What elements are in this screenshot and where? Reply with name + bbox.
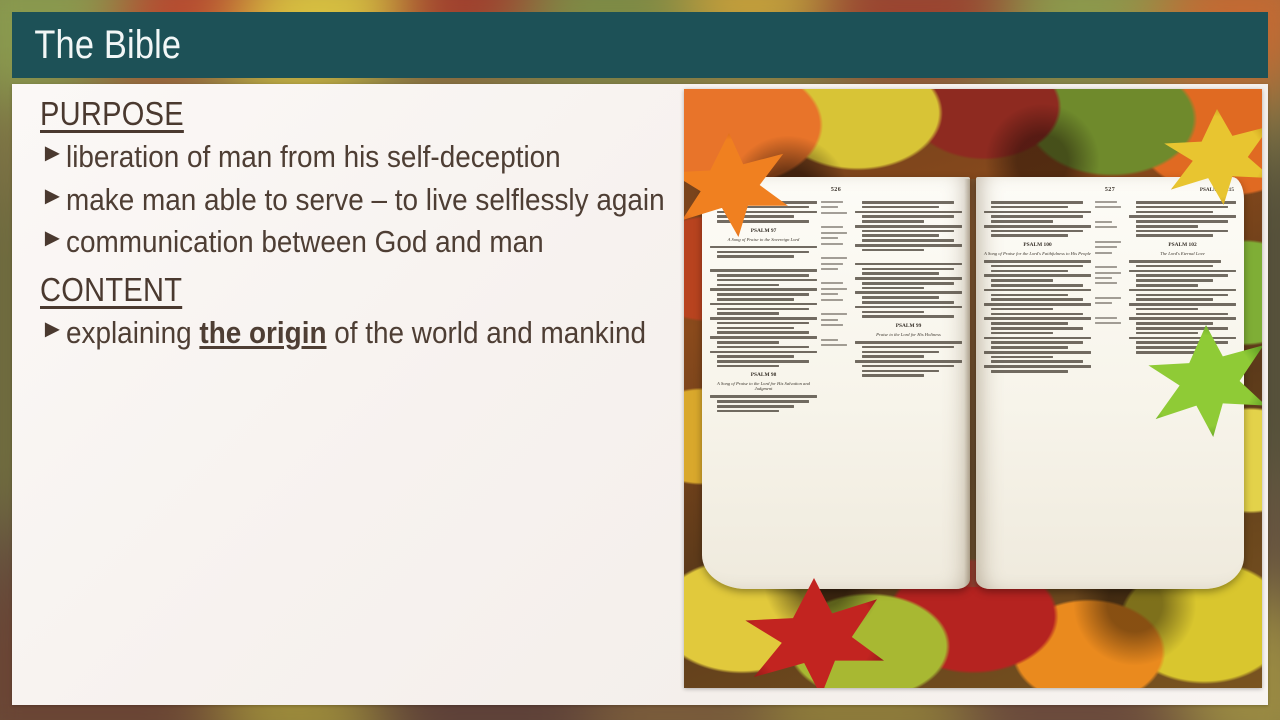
psalm-subtitle: A Song of Praise to the Lord for His Sal… [710, 381, 817, 391]
list-item: ► make man able to serve – to live selfl… [40, 180, 670, 220]
section-heading-purpose: PURPOSE [40, 96, 594, 133]
cross-reference-column [1095, 201, 1125, 581]
body-text-column: PURPOSE ► liberation of man from his sel… [40, 89, 670, 356]
psalm-title: PSALM 99 [855, 323, 962, 329]
bible-left-page: PSALM 96:13 526 PSALM 97 A Song of Prais… [702, 177, 970, 589]
list-item: ► liberation of man from his self-decept… [40, 137, 670, 177]
cross-reference-column [821, 201, 851, 581]
psalm-title: PSALM 97 [710, 228, 817, 234]
emphasised-phrase: the origin [199, 315, 326, 350]
psalm-subtitle: A Song of Praise for the Lord's Faithful… [984, 251, 1091, 256]
page-title: The Bible [12, 23, 181, 68]
text-column: PSALM 99 Praise to the Lord for His Holi… [855, 201, 962, 581]
triangle-right-icon: ► [40, 137, 65, 171]
bullet-text-post: of the world and mankind [326, 315, 645, 350]
text-column: PSALM 100 A Song of Praise for the Lord'… [984, 201, 1091, 581]
list-item-label: explaining the origin of the world and m… [66, 313, 646, 353]
psalm-subtitle: The Lord's Eternal Love [1129, 251, 1236, 256]
list-item: ► explaining the origin of the world and… [40, 313, 670, 353]
open-bible-on-autumn-leaves-photo: PSALM 96:13 526 PSALM 97 A Song of Prais… [684, 89, 1262, 688]
psalm-title: PSALM 102 [1129, 242, 1236, 248]
psalm-title: PSALM 100 [984, 242, 1091, 248]
bullet-text-pre: explaining [66, 315, 199, 350]
triangle-right-icon: ► [40, 313, 65, 347]
psalm-title: PSALM 98 [710, 372, 817, 378]
psalm-subtitle: A Song of Praise to the Sovereign Lord [710, 237, 817, 242]
triangle-right-icon: ► [40, 180, 65, 214]
left-page-columns: PSALM 97 A Song of Praise to the Soverei… [710, 201, 962, 581]
slide: The Bible PURPOSE ► liberation of man fr… [0, 0, 1280, 720]
slide-title-bar: The Bible [12, 12, 1268, 78]
text-column: PSALM 97 A Song of Praise to the Soverei… [710, 201, 817, 581]
content-panel: PURPOSE ► liberation of man from his sel… [12, 84, 1268, 705]
list-item-label: make man able to serve – to live selfles… [66, 180, 665, 220]
open-bible: PSALM 96:13 526 PSALM 97 A Song of Prais… [702, 177, 1244, 589]
psalm-subtitle: Praise to the Lord for His Holiness [855, 332, 962, 337]
triangle-right-icon: ► [40, 222, 65, 256]
list-item-label: liberation of man from his self-deceptio… [66, 137, 561, 177]
section-heading-content: CONTENT [40, 272, 594, 309]
list-item-label: communication between God and man [66, 222, 544, 262]
list-item: ► communication between God and man [40, 222, 670, 262]
